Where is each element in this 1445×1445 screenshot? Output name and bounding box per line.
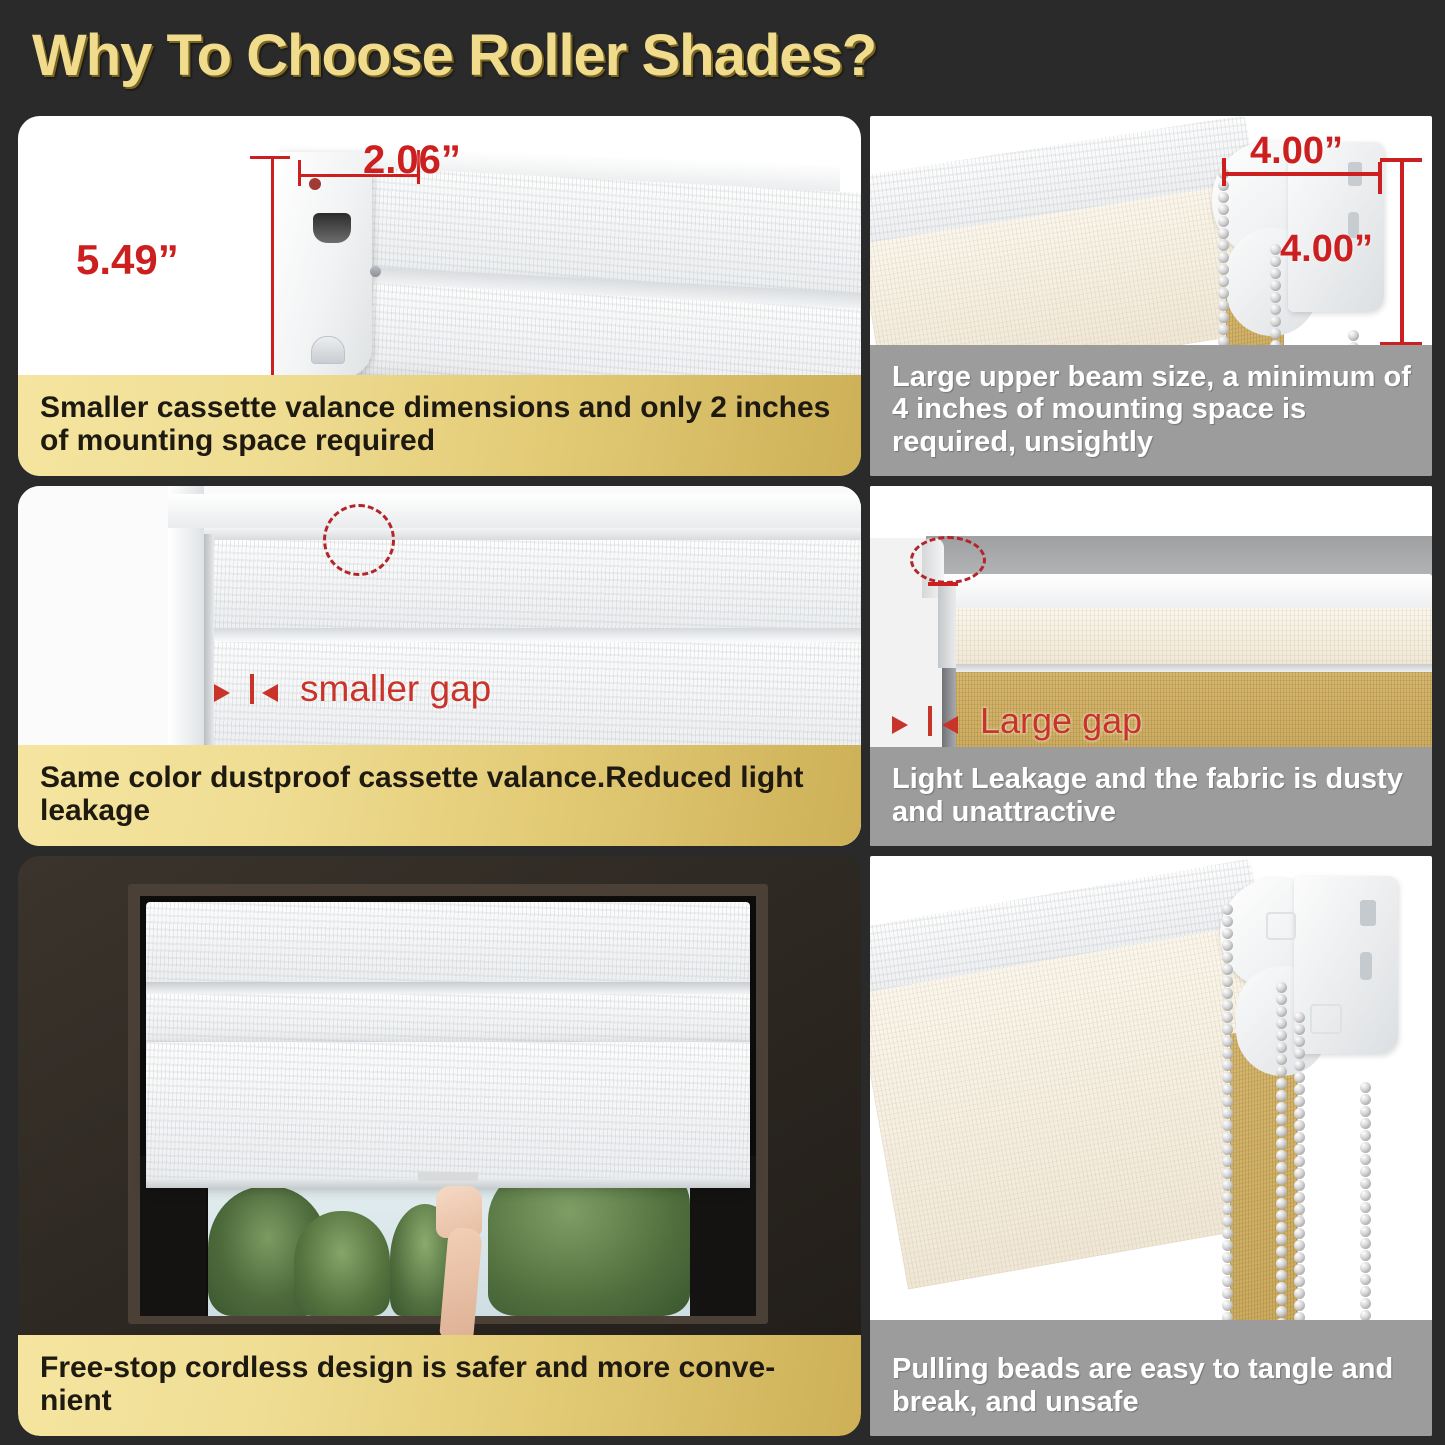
comparison-grid: 5.49” 2.06” Smaller cassette valance dim…: [0, 108, 1445, 1445]
cassette-valance: [146, 902, 750, 986]
gap-arrow-right-icon: [892, 716, 908, 734]
bracket-slot-top: [1360, 900, 1376, 926]
bracket-stem: [938, 582, 956, 668]
panel-dustproof-cassette-valance: smaller gap Same color dustproof cassett…: [18, 486, 861, 846]
beam-width-tick-right: [1378, 162, 1382, 194]
bead-chain-right[interactable]: [1360, 1082, 1371, 1334]
panel-cassette-valance-dimensions: 5.49” 2.06” Smaller cassette valance dim…: [18, 116, 861, 476]
bead-chain-middle-b[interactable]: [1294, 1012, 1305, 1334]
cassette-valance-face: [210, 540, 861, 630]
valance-bottom-rail: [210, 628, 861, 642]
bracket-emblem-top-icon: [1266, 912, 1296, 940]
beam-height-dimension-line: [1400, 158, 1404, 346]
panel-light-leakage: Large gap Light Leakage and the fabric i…: [870, 486, 1432, 846]
valance-rail: [146, 982, 750, 994]
end-cap-screw-top: [309, 178, 321, 190]
gap-highlight-circle: [910, 536, 986, 584]
end-cap-screw-mid: [370, 266, 381, 277]
page-title: Why To Choose Roller Shades?: [32, 22, 876, 89]
height-dimension-line: [271, 156, 274, 384]
ceiling-area: [870, 486, 1432, 538]
bracket-emblem-bottom-icon: [1310, 1004, 1342, 1034]
gap-arrow-left-icon: [942, 716, 958, 734]
gap-highlight-marker: [928, 582, 958, 586]
bead-chain-left[interactable]: [1222, 904, 1233, 1334]
gap-highlight-circle: [323, 504, 395, 576]
gap-arrow-left-icon: [262, 684, 278, 702]
upper-fabric: [950, 608, 1432, 666]
bracket-slot-bottom: [1360, 952, 1372, 980]
large-gap-label: Large gap: [980, 700, 1142, 742]
height-dimension-label: 5.49”: [76, 236, 179, 284]
width-dimension-tick-left: [298, 160, 301, 186]
height-dimension-tick-top: [250, 156, 290, 159]
gap-arrow-right-icon: [214, 684, 230, 702]
valance-lower-lip: [146, 994, 750, 1042]
panel-caption-cassette-valance-dimensions: Smaller cassette valance dimensions and …: [18, 375, 861, 476]
valance-top-lip: [204, 528, 861, 540]
tree-mid-left: [294, 1211, 390, 1316]
beam-width-dimension-label: 4.00”: [1250, 130, 1343, 173]
window-frame-top: [168, 494, 861, 528]
bead-chain-middle-a[interactable]: [1276, 982, 1287, 1334]
shade-side-channel: [204, 534, 214, 761]
beam-height-tick-top: [1380, 158, 1422, 162]
shade-fabric: [146, 1042, 750, 1184]
end-cap-pin: [311, 336, 345, 364]
panel-caption-free-stop-cordless-design: Free-stop cordless design is safer and m…: [18, 1335, 861, 1436]
shade-pull-tab: [418, 1172, 478, 1181]
smaller-gap-label: smaller gap: [300, 668, 491, 710]
panel-large-upper-beam: 4.00” 4.00” Large upper beam size, a min…: [870, 116, 1432, 476]
gap-tick: [250, 674, 254, 704]
width-dimension-label: 2.06”: [363, 138, 461, 183]
panel-caption-light-leakage: Light Leakage and the fabric is dusty an…: [870, 747, 1432, 846]
gap-tick: [928, 706, 932, 736]
beam-height-dimension-label: 4.00”: [1280, 228, 1373, 271]
panel-caption-pulling-beads-tangle: Pulling beads are easy to tangle and bre…: [870, 1337, 1432, 1436]
end-cap-slot: [313, 213, 351, 243]
panel-caption-dustproof-cassette-valance: Same color dustproof cassette valance.Re…: [18, 745, 861, 846]
panel-free-stop-cordless-design: Free-stop cordless design is safer and m…: [18, 856, 861, 1436]
panel-caption-large-upper-beam: Large upper beam size, a minimum of 4 in…: [870, 345, 1432, 476]
fabric-seam: [950, 664, 1432, 672]
beam-width-tick-left: [1222, 158, 1226, 186]
panel-pulling-beads-tangle: Pulling beads are easy to tangle and bre…: [870, 856, 1432, 1436]
